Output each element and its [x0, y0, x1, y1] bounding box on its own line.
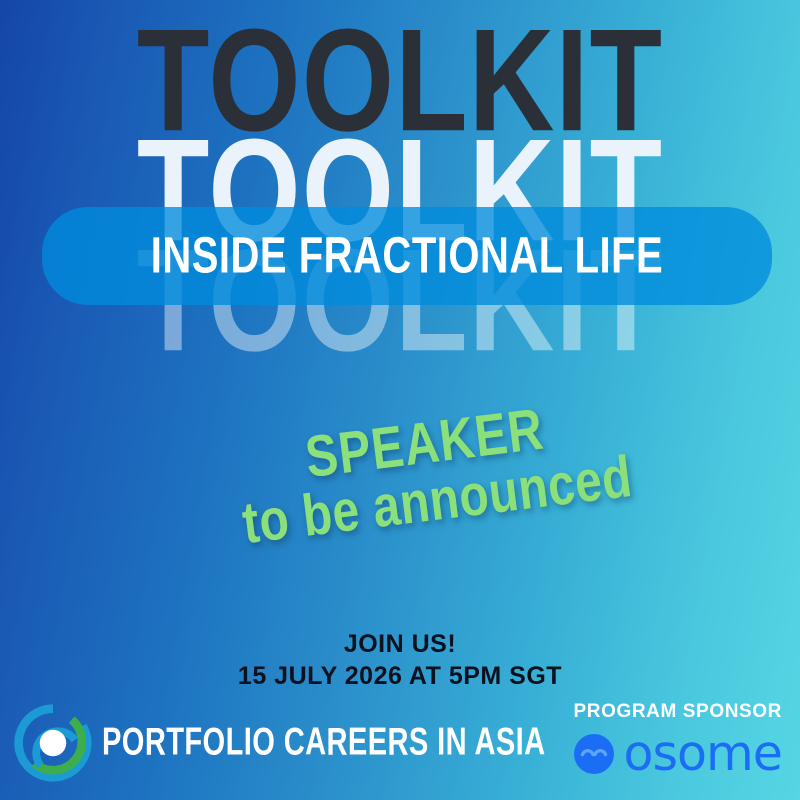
program-sponsor: PROGRAM SPONSOR osome — [573, 701, 782, 778]
sponsor-logo: osome — [573, 729, 782, 778]
title-banner: INSIDE FRACTIONAL LIFE — [42, 207, 772, 305]
brand-logo: PORTFOLIO CAREERS IN ASIA — [14, 704, 559, 782]
sponsor-label: PROGRAM SPONSOR — [573, 701, 782, 723]
join-us-cta: JOIN US! — [0, 628, 800, 660]
brand-name-label: PORTFOLIO CAREERS IN ASIA — [102, 721, 546, 765]
event-poster: TOOLKIT TOOLKIT TOOLKIT INSIDE FRACTIONA… — [0, 0, 800, 800]
speaker-label: SPEAKER — [302, 396, 547, 492]
banner-title: INSIDE FRACTIONAL LIFE — [151, 227, 663, 285]
speaker-status: to be announced — [239, 443, 636, 557]
sponsor-name: osome — [624, 729, 782, 778]
event-details: JOIN US! 15 JULY 2026 AT 5PM SGT — [0, 628, 800, 692]
speaker-announcement: SPEAKER to be announced — [0, 415, 800, 585]
event-datetime: 15 JULY 2026 AT 5PM SGT — [0, 660, 800, 692]
circular-ring-logo-icon — [14, 704, 92, 782]
toolkit-headline-layer-1: TOOLKIT — [0, 8, 800, 154]
osome-smiley-icon — [574, 734, 614, 774]
toolkit-headline-stack: TOOLKIT TOOLKIT TOOLKIT — [0, 0, 800, 400]
